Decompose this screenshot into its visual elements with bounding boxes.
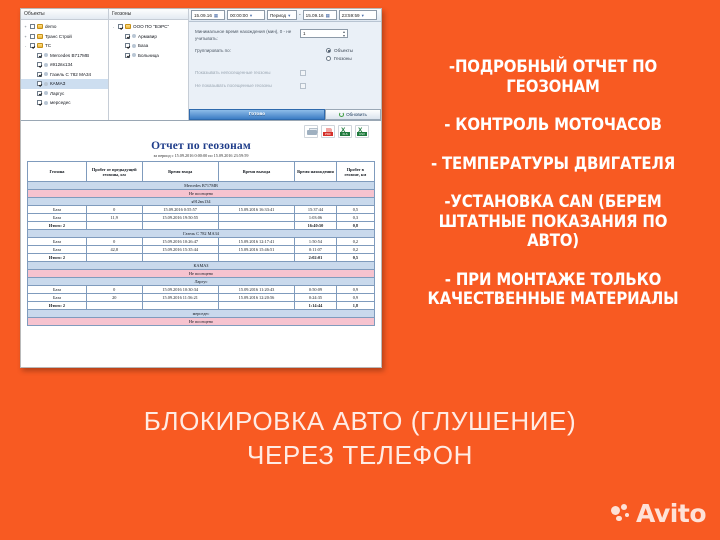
- app-screenshot-card: Объекты +demo+Транс Строй-ТСMercedes B71…: [20, 8, 382, 368]
- tree-checkbox[interactable]: [37, 62, 42, 67]
- report-total-cell: 0,8: [336, 222, 374, 230]
- headline-line-1: БЛОКИРОВКА АВТО (ГЛУШЕНИЕ): [0, 404, 720, 438]
- objects-pane-header: Объекты: [21, 9, 108, 20]
- report-cell: 15.09.2016 16:33:41: [218, 206, 294, 214]
- stepper-arrows-icon[interactable]: ▴▾: [343, 30, 345, 37]
- tree-checkbox[interactable]: [30, 43, 35, 48]
- report-cell: 15.09.2016 11:56:21: [142, 294, 218, 302]
- node-icon: [132, 44, 136, 48]
- geozones-pane-header: Геозоны: [109, 9, 188, 20]
- date-to-value: 15.09.16: [306, 11, 324, 20]
- report-total-row: Итого: 22:02:010,5: [28, 254, 375, 262]
- date-filter-bar: 15.09.16 ▦ 00:00:00 ▾ Период ▾ - 15.09.1…: [189, 9, 381, 22]
- hide-visited-row[interactable]: Не показывать посещенные геозоны: [195, 83, 375, 90]
- tree-checkbox[interactable]: [125, 43, 130, 48]
- report-group-row: мерседес: [28, 310, 375, 318]
- node-icon: [44, 53, 48, 57]
- report-empty-row: Не посещено: [28, 190, 375, 198]
- show-unvisited-label: Показывать непосещенные геозоны: [195, 70, 300, 77]
- avito-logo-icon: [611, 504, 631, 524]
- report-column-header: Геозона: [28, 162, 87, 182]
- report-cell: 0: [86, 238, 142, 246]
- report-group-row: Mercedes B717MB: [28, 182, 375, 190]
- tree-checkbox[interactable]: [125, 53, 130, 58]
- tree-checkbox[interactable]: [37, 100, 42, 105]
- report-cell: База: [28, 294, 87, 302]
- report-table-body: Mercedes B717MBНе посещеноя912вх134База0…: [28, 182, 375, 326]
- report-total-cell: Итого: 2: [28, 254, 87, 262]
- report-cell: 0: [86, 286, 142, 294]
- group-by-label: Группировать по:: [195, 48, 300, 55]
- node-icon: [44, 101, 48, 105]
- min-stay-stepper[interactable]: 1 ▴▾: [300, 29, 348, 38]
- calendar-icon[interactable]: ▦: [214, 11, 218, 20]
- tree-checkbox[interactable]: [30, 34, 35, 39]
- radio-geozones-label: Геозоны: [334, 56, 352, 61]
- report-cell: 0:11:07: [295, 246, 337, 254]
- time-to-input[interactable]: 23:59:59 ▾: [339, 10, 377, 20]
- report-group-label: Ларгус: [28, 278, 375, 286]
- min-stay-row: Минимальное время нахождения (мин), 0 - …: [195, 29, 375, 42]
- report-data-row: База015.09.2016 0:55:5715.09.2016 16:33:…: [28, 206, 375, 214]
- objects-tree-item[interactable]: мерседес: [21, 98, 108, 108]
- report-total-cell: 1:14:44: [295, 302, 337, 310]
- node-icon: [44, 63, 48, 67]
- report-cell: 15.09.2016 0:55:57: [142, 206, 218, 214]
- report-cell: 15.09.2016 11:20:43: [218, 286, 294, 294]
- report-cell: [218, 214, 294, 222]
- export-pdf-icon[interactable]: [321, 125, 335, 138]
- objects-tree-item[interactable]: я912вх134: [21, 60, 108, 70]
- report-no-visits-label: Не посещено: [28, 270, 375, 278]
- refresh-button-label: Обновить: [346, 112, 367, 117]
- tree-expander-icon[interactable]: +: [23, 24, 28, 29]
- report-group-label: Mercedes B717MB: [28, 182, 375, 190]
- report-table-head: ГеозонаПробег от предыдущей геозоны, кмВ…: [28, 162, 375, 182]
- show-unvisited-checkbox[interactable]: [300, 70, 306, 76]
- report-cell: 15.09.2016 15:35:44: [142, 246, 218, 254]
- radio-objects-label: Объекты: [334, 48, 353, 53]
- report-group-label: мерседес: [28, 310, 375, 318]
- report-cell: 0:24:35: [295, 294, 337, 302]
- report-group-label: КАМАЗ: [28, 262, 375, 270]
- refresh-button[interactable]: Обновить: [325, 109, 381, 120]
- report-group-row: КАМАЗ: [28, 262, 375, 270]
- tree-item-label: Больница: [138, 53, 159, 58]
- time-from-value: 00:00:00: [230, 11, 248, 20]
- tree-expander-icon[interactable]: +: [23, 34, 28, 39]
- report-total-cell: [86, 254, 142, 262]
- app-top-region: Объекты +demo+Транс Строй-ТСMercedes B71…: [21, 9, 381, 121]
- tree-checkbox[interactable]: [37, 81, 42, 86]
- tree-item-label: Газель С 782 МА34: [50, 72, 91, 77]
- tree-item-label: ТС: [45, 43, 51, 48]
- radio-icon[interactable]: [326, 48, 331, 53]
- report-cell: База: [28, 286, 87, 294]
- report-cell: 15.09.2016 15:46:51: [218, 246, 294, 254]
- report-cell: 15.09.2016 12:17:41: [218, 238, 294, 246]
- objects-tree-item[interactable]: Газель С 782 МА34: [21, 70, 108, 80]
- folder-icon: [125, 24, 131, 29]
- report-empty-row: Не посещено: [28, 270, 375, 278]
- report-cell: 15.09.2016 19:50:55: [142, 214, 218, 222]
- tree-item-label: demo: [45, 24, 57, 29]
- avito-watermark: Avito: [611, 499, 706, 528]
- filter-pane: 15.09.16 ▦ 00:00:00 ▾ Период ▾ - 15.09.1…: [189, 9, 381, 120]
- time-from-input[interactable]: 00:00:00 ▾: [227, 10, 265, 20]
- report-total-cell: 0,5: [336, 254, 374, 262]
- report-group-row: Ларгус: [28, 278, 375, 286]
- objects-tree-item[interactable]: +Транс Строй: [21, 32, 108, 42]
- tree-checkbox[interactable]: [37, 53, 42, 58]
- report-total-cell: Итого: 2: [28, 222, 87, 230]
- report-group-row: Газель С 782 МА34: [28, 230, 375, 238]
- objects-tree-item[interactable]: +demo: [21, 22, 108, 32]
- tree-expander-icon[interactable]: -: [111, 24, 116, 29]
- export-toolbar[interactable]: X X: [27, 125, 375, 138]
- report-cell: 0,2: [336, 246, 374, 254]
- report-total-cell: [86, 302, 142, 310]
- tree-checkbox[interactable]: [30, 24, 35, 29]
- report-total-cell: [218, 254, 294, 262]
- hide-visited-checkbox[interactable]: [300, 83, 306, 89]
- geozones-tree-item[interactable]: Больница: [109, 51, 188, 61]
- marketing-bullet: -УСТАНОВКА CAN (БЕРЕМ ШТАТНЫЕ ПОКАЗАНИЯ …: [411, 193, 694, 252]
- min-stay-value: 1: [303, 31, 306, 36]
- report-cell: 0: [86, 206, 142, 214]
- report-cell: 0,9: [336, 286, 374, 294]
- ready-button[interactable]: Готово: [189, 109, 325, 120]
- tree-checkbox[interactable]: [37, 72, 42, 77]
- report-column-header: Пробег от предыдущей геозоны, км: [86, 162, 142, 182]
- report-cell: 0:50:09: [295, 286, 337, 294]
- report-cell: 1:03:06: [295, 214, 337, 222]
- report-data-row: База11,915.09.2016 19:50:551:03:060,3: [28, 214, 375, 222]
- report-cell: 0,5: [336, 206, 374, 214]
- tree-checkbox[interactable]: [37, 91, 42, 96]
- tree-item-label: мерседес: [50, 100, 71, 105]
- date-to-input[interactable]: 15.09.16 ▦: [303, 10, 337, 20]
- refresh-icon: [339, 112, 344, 117]
- report-cell: 1:50:54: [295, 238, 337, 246]
- folder-icon: [37, 34, 43, 39]
- marketing-bullet-list: -ПОДРОБНЫЙ ОТЧЕТ ПО ГЕОЗОНАМ- КОНТРОЛЬ М…: [392, 58, 714, 310]
- geozones-pane[interactable]: Геозоны -ООО ПО "ВЭРС"АрмавирБазаБольниц…: [109, 9, 189, 120]
- report-total-cell: [142, 254, 218, 262]
- geozones-tree[interactable]: -ООО ПО "ВЭРС"АрмавирБазаБольница: [109, 20, 188, 60]
- report-column-header: Пробег в геозоне, км: [336, 162, 374, 182]
- period-label: Период: [270, 11, 286, 20]
- report-total-row: Итого: 21:14:441,8: [28, 302, 375, 310]
- report-cell: База: [28, 246, 87, 254]
- report-column-header: Время нахождения: [295, 162, 337, 182]
- report-cell: База: [28, 214, 87, 222]
- marketing-bullet: - КОНТРОЛЬ МОТОЧАСОВ: [411, 116, 694, 136]
- report-column-header: Время выхода: [218, 162, 294, 182]
- tree-item-label: Ларгус: [50, 91, 64, 96]
- report-region: X X Отчет по геозонам за период с 15.09.…: [21, 121, 381, 368]
- chevron-down-icon[interactable]: ▾: [250, 11, 252, 20]
- report-total-cell: [218, 302, 294, 310]
- marketing-bullet: - ТЕМПЕРАТУРЫ ДВИГАТЕЛЯ: [411, 155, 694, 175]
- report-empty-row: Не посещено: [28, 318, 375, 326]
- report-data-row: База2015.09.2016 11:56:2115.09.2016 12:2…: [28, 294, 375, 302]
- node-icon: [132, 53, 136, 57]
- tree-expander-icon[interactable]: -: [23, 43, 28, 48]
- marketing-headline: БЛОКИРОВКА АВТО (ГЛУШЕНИЕ) ЧЕРЕЗ ТЕЛЕФОН: [0, 404, 720, 472]
- report-cell: 11,9: [86, 214, 142, 222]
- report-cell: База: [28, 206, 87, 214]
- chevron-down-icon[interactable]: ▾: [288, 11, 290, 20]
- report-total-cell: 1,8: [336, 302, 374, 310]
- folder-icon: [37, 43, 43, 48]
- objects-tree[interactable]: +demo+Транс Строй-ТСMercedes B717MBя912в…: [21, 20, 108, 108]
- radio-icon[interactable]: [326, 56, 331, 61]
- report-group-row: я912вх134: [28, 198, 375, 206]
- calendar-icon[interactable]: ▦: [326, 11, 330, 20]
- tree-item-label: Армавир: [138, 34, 157, 39]
- export-csv-icon[interactable]: X: [355, 125, 369, 138]
- report-total-cell: 16:40:50: [295, 222, 337, 230]
- tree-item-label: ООО ПО "ВЭРС": [133, 24, 169, 29]
- report-header-row: ГеозонаПробег от предыдущей геозоны, кмВ…: [28, 162, 375, 182]
- report-subtitle: за период с 15.09.2016 0:00:00 по 15.09.…: [27, 153, 375, 158]
- headline-line-2: ЧЕРЕЗ ТЕЛЕФОН: [0, 438, 720, 472]
- marketing-bullet: -ПОДРОБНЫЙ ОТЧЕТ ПО ГЕОЗОНАМ: [411, 58, 694, 97]
- node-icon: [132, 34, 136, 38]
- report-total-cell: [218, 222, 294, 230]
- group-by-row: Группировать по: Объекты Геозоны: [195, 48, 375, 64]
- report-cell: 0,9: [336, 294, 374, 302]
- objects-tree-item[interactable]: Mercedes B717MB: [21, 51, 108, 61]
- tree-item-label: Mercedes B717MB: [50, 53, 89, 58]
- chevron-down-icon[interactable]: ▾: [362, 11, 364, 20]
- geozones-tree-item[interactable]: База: [109, 41, 188, 51]
- report-total-row: Итого: 216:40:500,8: [28, 222, 375, 230]
- radio-objects[interactable]: Объекты: [326, 48, 353, 53]
- report-total-cell: Итого: 2: [28, 302, 87, 310]
- geozones-tree-item[interactable]: -ООО ПО "ВЭРС": [109, 22, 188, 32]
- report-cell: 15.09.2016 12:20:56: [218, 294, 294, 302]
- report-table: ГеозонаПробег от предыдущей геозоны, кмВ…: [27, 161, 375, 326]
- node-icon: [44, 72, 48, 76]
- objects-tree-item[interactable]: Ларгус: [21, 89, 108, 99]
- report-cell: 20: [86, 294, 142, 302]
- tree-item-label: я912вх134: [50, 62, 73, 67]
- report-cell: База: [28, 238, 87, 246]
- range-dash: -: [299, 12, 301, 18]
- hide-visited-label: Не показывать посещенные геозоны: [195, 83, 300, 90]
- export-xls-icon[interactable]: X: [338, 125, 352, 138]
- report-data-row: База015.09.2016 10:30:3415.09.2016 11:20…: [28, 286, 375, 294]
- report-cell: 15.09.2016 10:30:34: [142, 286, 218, 294]
- period-select[interactable]: Период ▾: [267, 10, 297, 20]
- report-total-cell: [142, 302, 218, 310]
- report-data-row: База42,815.09.2016 15:35:4415.09.2016 15…: [28, 246, 375, 254]
- report-cell: 15.09.2016 10:26:47: [142, 238, 218, 246]
- report-cell: 42,8: [86, 246, 142, 254]
- show-unvisited-row[interactable]: Показывать непосещенные геозоны: [195, 70, 375, 77]
- report-cell: 0,3: [336, 214, 374, 222]
- report-title: Отчет по геозонам: [27, 140, 375, 152]
- report-data-row: База015.09.2016 10:26:4715.09.2016 12:17…: [28, 238, 375, 246]
- date-from-input[interactable]: 15.09.16 ▦: [191, 10, 225, 20]
- objects-pane[interactable]: Объекты +demo+Транс Строй-ТСMercedes B71…: [21, 9, 109, 120]
- report-total-cell: 2:02:01: [295, 254, 337, 262]
- avito-watermark-text: Avito: [636, 499, 706, 528]
- folder-icon: [37, 24, 43, 29]
- filter-buttons: Готово Обновить: [189, 109, 381, 120]
- marketing-bullet: - ПРИ МОНТАЖЕ ТОЛЬКО КАЧЕСТВЕННЫЕ МАТЕРИ…: [411, 271, 694, 310]
- report-group-label: Газель С 782 МА34: [28, 230, 375, 238]
- tree-item-label: КАМАЗ: [50, 81, 65, 86]
- geozones-tree-item[interactable]: Армавир: [109, 32, 188, 42]
- report-cell: 15:37:44: [295, 206, 337, 214]
- date-from-value: 15.09.16: [194, 11, 212, 20]
- filter-body: Минимальное время нахождения (мин), 0 - …: [189, 22, 381, 89]
- report-no-visits-label: Не посещено: [28, 190, 375, 198]
- tree-item-label: Транс Строй: [45, 34, 72, 39]
- node-icon: [44, 82, 48, 86]
- group-by-radios[interactable]: Объекты Геозоны: [326, 48, 353, 64]
- report-no-visits-label: Не посещено: [28, 318, 375, 326]
- objects-tree-item[interactable]: КАМАЗ: [21, 79, 108, 89]
- tree-checkbox[interactable]: [125, 34, 130, 39]
- print-icon[interactable]: [304, 125, 318, 138]
- report-total-cell: [86, 222, 142, 230]
- objects-tree-item[interactable]: -ТС: [21, 41, 108, 51]
- node-icon: [44, 91, 48, 95]
- tree-checkbox[interactable]: [118, 24, 123, 29]
- time-to-value: 23:59:59: [342, 11, 360, 20]
- tree-item-label: База: [138, 43, 148, 48]
- report-column-header: Время входа: [142, 162, 218, 182]
- report-total-cell: [142, 222, 218, 230]
- report-cell: 0,2: [336, 238, 374, 246]
- radio-geozones[interactable]: Геозоны: [326, 56, 353, 61]
- report-group-label: я912вх134: [28, 198, 375, 206]
- min-stay-label: Минимальное время нахождения (мин), 0 - …: [195, 29, 300, 42]
